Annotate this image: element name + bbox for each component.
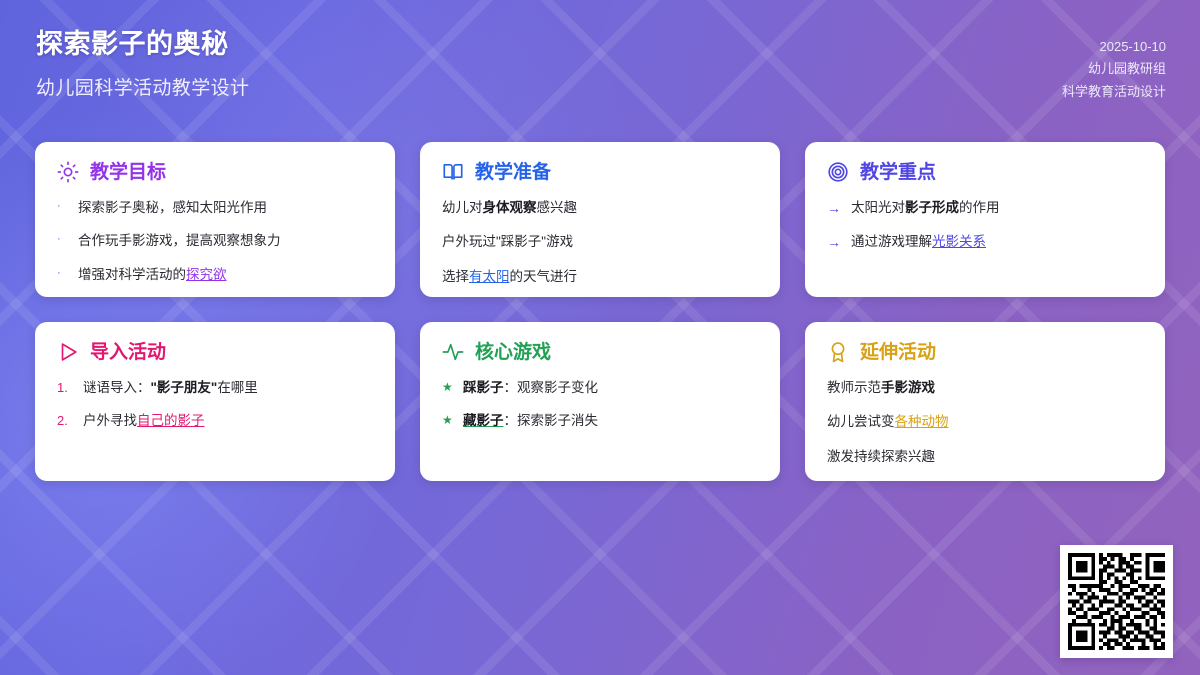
list-item-text: 太阳光对影子形成的作用 [851, 198, 1143, 218]
page-title: 探索影子的奥秘 [36, 28, 1164, 62]
list-item: 1.谜语导入："影子朋友"在哪里 [57, 378, 373, 398]
list-item-text: 谜语导入："影子朋友"在哪里 [83, 378, 373, 398]
inline-link[interactable]: 光影关系 [932, 234, 986, 249]
list-item-text: 户外玩过"踩影子"游戏 [442, 232, 758, 252]
list-item: →太阳光对影子形成的作用 [827, 198, 1143, 219]
card-title: 教学重点 [860, 163, 936, 182]
list-item-marker: · [57, 198, 68, 215]
target-icon [827, 161, 849, 183]
inline-link[interactable]: 探究欲 [186, 267, 227, 282]
card-header: 延伸活动 [827, 341, 1143, 363]
sun-icon [57, 161, 79, 183]
card-core-game[interactable]: 核心游戏★踩影子：观察影子变化★藏影子：探索影子消失 [420, 322, 780, 481]
list-item-marker: · [57, 265, 68, 282]
list-item: →通过游戏理解光影关系 [827, 232, 1143, 253]
card-title: 教学目标 [90, 163, 166, 182]
list-item: ★踩影子：观察影子变化 [442, 378, 758, 398]
list-item-marker: → [827, 198, 841, 219]
list-item-text: 合作玩手影游戏，提高观察想象力 [78, 231, 373, 251]
list-item-marker: · [57, 231, 68, 248]
card-item-list: 幼儿对身体观察感兴趣户外玩过"踩影子"游戏选择有太阳的天气进行 [442, 198, 758, 287]
card-title: 延伸活动 [860, 343, 936, 362]
card-item-list: →太阳光对影子形成的作用→通过游戏理解光影关系 [827, 198, 1143, 253]
card-item-list: ·探索影子奥秘，感知太阳光作用·合作玩手影游戏，提高观察想象力·增强对科学活动的… [57, 198, 373, 285]
qr-code-image [1068, 553, 1165, 650]
card-header: 核心游戏 [442, 341, 758, 363]
meta-category: 科学教育活动设计 [1062, 81, 1166, 103]
list-item: 教师示范手影游戏 [827, 378, 1143, 398]
play-icon [57, 341, 79, 363]
inline-link[interactable]: 有太阳 [469, 269, 510, 284]
list-item-text: 选择有太阳的天气进行 [442, 267, 758, 287]
list-item-marker: 2. [57, 411, 73, 431]
list-item-text: 增强对科学活动的探究欲 [78, 265, 373, 285]
list-item-text: 教师示范手影游戏 [827, 378, 1143, 398]
card-header: 教学重点 [827, 161, 1143, 183]
card-teaching-preparation[interactable]: 教学准备幼儿对身体观察感兴趣户外玩过"踩影子"游戏选择有太阳的天气进行 [420, 142, 780, 297]
list-item: 幼儿对身体观察感兴趣 [442, 198, 758, 218]
list-item: 户外玩过"踩影子"游戏 [442, 232, 758, 252]
list-item: ·增强对科学活动的探究欲 [57, 265, 373, 285]
activity-icon [442, 341, 464, 363]
list-item: ·合作玩手影游戏，提高观察想象力 [57, 231, 373, 251]
list-item-text: 探索影子奥秘，感知太阳光作用 [78, 198, 373, 218]
list-item-text: 激发持续探索兴趣 [827, 447, 1143, 467]
card-grid: 教学目标·探索影子奥秘，感知太阳光作用·合作玩手影游戏，提高观察想象力·增强对科… [35, 142, 1165, 481]
card-item-list: 教师示范手影游戏幼儿尝试变各种动物激发持续探索兴趣 [827, 378, 1143, 467]
list-item-marker: 1. [57, 378, 73, 398]
inline-link[interactable]: 各种动物 [895, 414, 949, 429]
card-teaching-goals[interactable]: 教学目标·探索影子奥秘，感知太阳光作用·合作玩手影游戏，提高观察想象力·增强对科… [35, 142, 395, 297]
book-icon [442, 161, 464, 183]
card-item-list: 1.谜语导入："影子朋友"在哪里2.户外寻找自己的影子 [57, 378, 373, 432]
card-extension-activity[interactable]: 延伸活动教师示范手影游戏幼儿尝试变各种动物激发持续探索兴趣 [805, 322, 1165, 481]
card-header: 教学准备 [442, 161, 758, 183]
list-item: 幼儿尝试变各种动物 [827, 412, 1143, 432]
meta-org: 幼儿园教研组 [1062, 58, 1166, 80]
list-item-marker: → [827, 232, 841, 253]
page-subtitle: 幼儿园科学活动教学设计 [36, 73, 1164, 100]
qr-code[interactable] [1060, 545, 1173, 658]
header-meta: 2025-10-10 幼儿园教研组 科学教育活动设计 [1062, 36, 1166, 103]
card-teaching-focus[interactable]: 教学重点→太阳光对影子形成的作用→通过游戏理解光影关系 [805, 142, 1165, 297]
card-intro-activity[interactable]: 导入活动1.谜语导入："影子朋友"在哪里2.户外寻找自己的影子 [35, 322, 395, 481]
card-item-list: ★踩影子：观察影子变化★藏影子：探索影子消失 [442, 378, 758, 432]
list-item-text: 幼儿尝试变各种动物 [827, 412, 1143, 432]
slide-header: 探索影子的奥秘 幼儿园科学活动教学设计 2025-10-10 幼儿园教研组 科学… [0, 0, 1200, 128]
card-header: 导入活动 [57, 341, 373, 363]
list-item: ★藏影子：探索影子消失 [442, 411, 758, 431]
inline-link[interactable]: 藏影子 [463, 413, 504, 428]
list-item-marker: ★ [442, 378, 453, 396]
list-item: ·探索影子奥秘，感知太阳光作用 [57, 198, 373, 218]
slide-root: 探索影子的奥秘 幼儿园科学活动教学设计 2025-10-10 幼儿园教研组 科学… [0, 0, 1200, 675]
inline-link[interactable]: 自己的影子 [137, 413, 205, 428]
list-item-text: 藏影子：探索影子消失 [463, 411, 758, 431]
card-title: 核心游戏 [475, 343, 551, 362]
list-item: 选择有太阳的天气进行 [442, 267, 758, 287]
list-item-text: 通过游戏理解光影关系 [851, 232, 1143, 252]
award-icon [827, 341, 849, 363]
list-item-text: 幼儿对身体观察感兴趣 [442, 198, 758, 218]
meta-date: 2025-10-10 [1062, 36, 1166, 58]
card-title: 教学准备 [475, 163, 551, 182]
list-item-marker: ★ [442, 411, 453, 429]
list-item: 激发持续探索兴趣 [827, 447, 1143, 467]
list-item-text: 户外寻找自己的影子 [83, 411, 373, 431]
list-item-text: 踩影子：观察影子变化 [463, 378, 758, 398]
card-header: 教学目标 [57, 161, 373, 183]
card-title: 导入活动 [90, 343, 166, 362]
list-item: 2.户外寻找自己的影子 [57, 411, 373, 431]
